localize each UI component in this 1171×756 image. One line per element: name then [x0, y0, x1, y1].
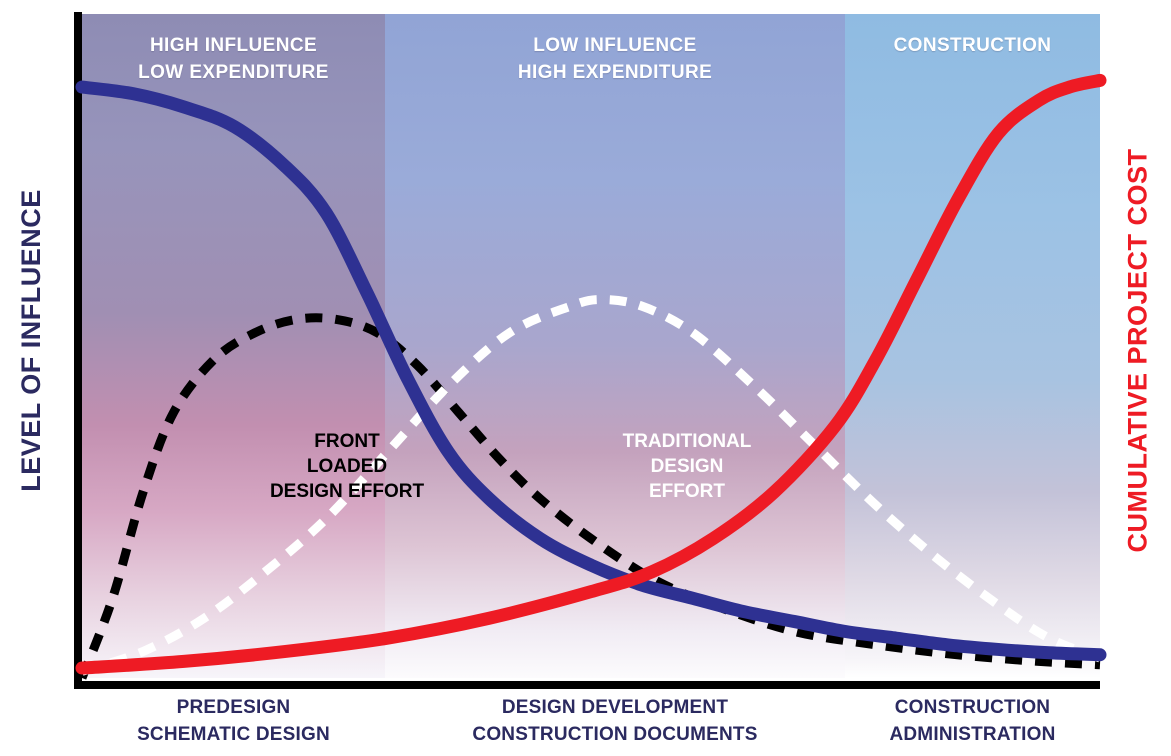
- curve-label-traditional-l3: EFFORT: [579, 479, 795, 504]
- x-axis-caption-2-line2: ADMINISTRATION: [845, 721, 1100, 748]
- series-path-1: [82, 80, 1100, 668]
- curves-layer: [82, 14, 1100, 678]
- curve-label-traditional-l2: DESIGN: [579, 454, 795, 479]
- y-axis-title-left-text: LEVEL OF INFLUENCE: [16, 189, 47, 492]
- y-axis-title-right-text: CUMULATIVE PROJECT COST: [1122, 148, 1153, 552]
- x-axis-caption-2-line1: CONSTRUCTION: [845, 694, 1100, 721]
- x-axis-caption-0-line1: PREDESIGN: [82, 694, 385, 721]
- x-axis-captions: PREDESIGN SCHEMATIC DESIGN DESIGN DEVELO…: [82, 694, 1100, 756]
- chart-root: LEVEL OF INFLUENCE CUMULATIVE PROJECT CO…: [0, 0, 1171, 756]
- x-axis-caption-1: DESIGN DEVELOPMENT CONSTRUCTION DOCUMENT…: [385, 694, 845, 748]
- x-axis-caption-0: PREDESIGN SCHEMATIC DESIGN: [82, 694, 385, 748]
- x-axis-line: [74, 681, 1100, 689]
- y-axis-line: [74, 12, 82, 688]
- x-axis-caption-1-line1: DESIGN DEVELOPMENT: [385, 694, 845, 721]
- curve-label-traditional-l1: TRADITIONAL: [579, 429, 795, 454]
- series-path-0: [82, 87, 1100, 655]
- x-axis-caption-2: CONSTRUCTION ADMINISTRATION: [845, 694, 1100, 748]
- curve-label-traditional: TRADITIONAL DESIGN EFFORT: [579, 429, 795, 504]
- curve-label-front-loaded-l3: DESIGN EFFORT: [242, 479, 452, 504]
- curve-label-front-loaded: FRONT LOADED DESIGN EFFORT: [242, 429, 452, 504]
- y-axis-title-left: LEVEL OF INFLUENCE: [0, 0, 62, 680]
- x-axis-caption-1-line2: CONSTRUCTION DOCUMENTS: [385, 721, 845, 748]
- curve-label-front-loaded-l1: FRONT: [242, 429, 452, 454]
- y-axis-title-right: CUMULATIVE PROJECT COST: [1104, 0, 1171, 700]
- x-axis-caption-0-line2: SCHEMATIC DESIGN: [82, 721, 385, 748]
- plot-area: HIGH INFLUENCE LOW EXPENDITURE LOW INFLU…: [82, 14, 1100, 678]
- curve-label-front-loaded-l2: LOADED: [242, 454, 452, 479]
